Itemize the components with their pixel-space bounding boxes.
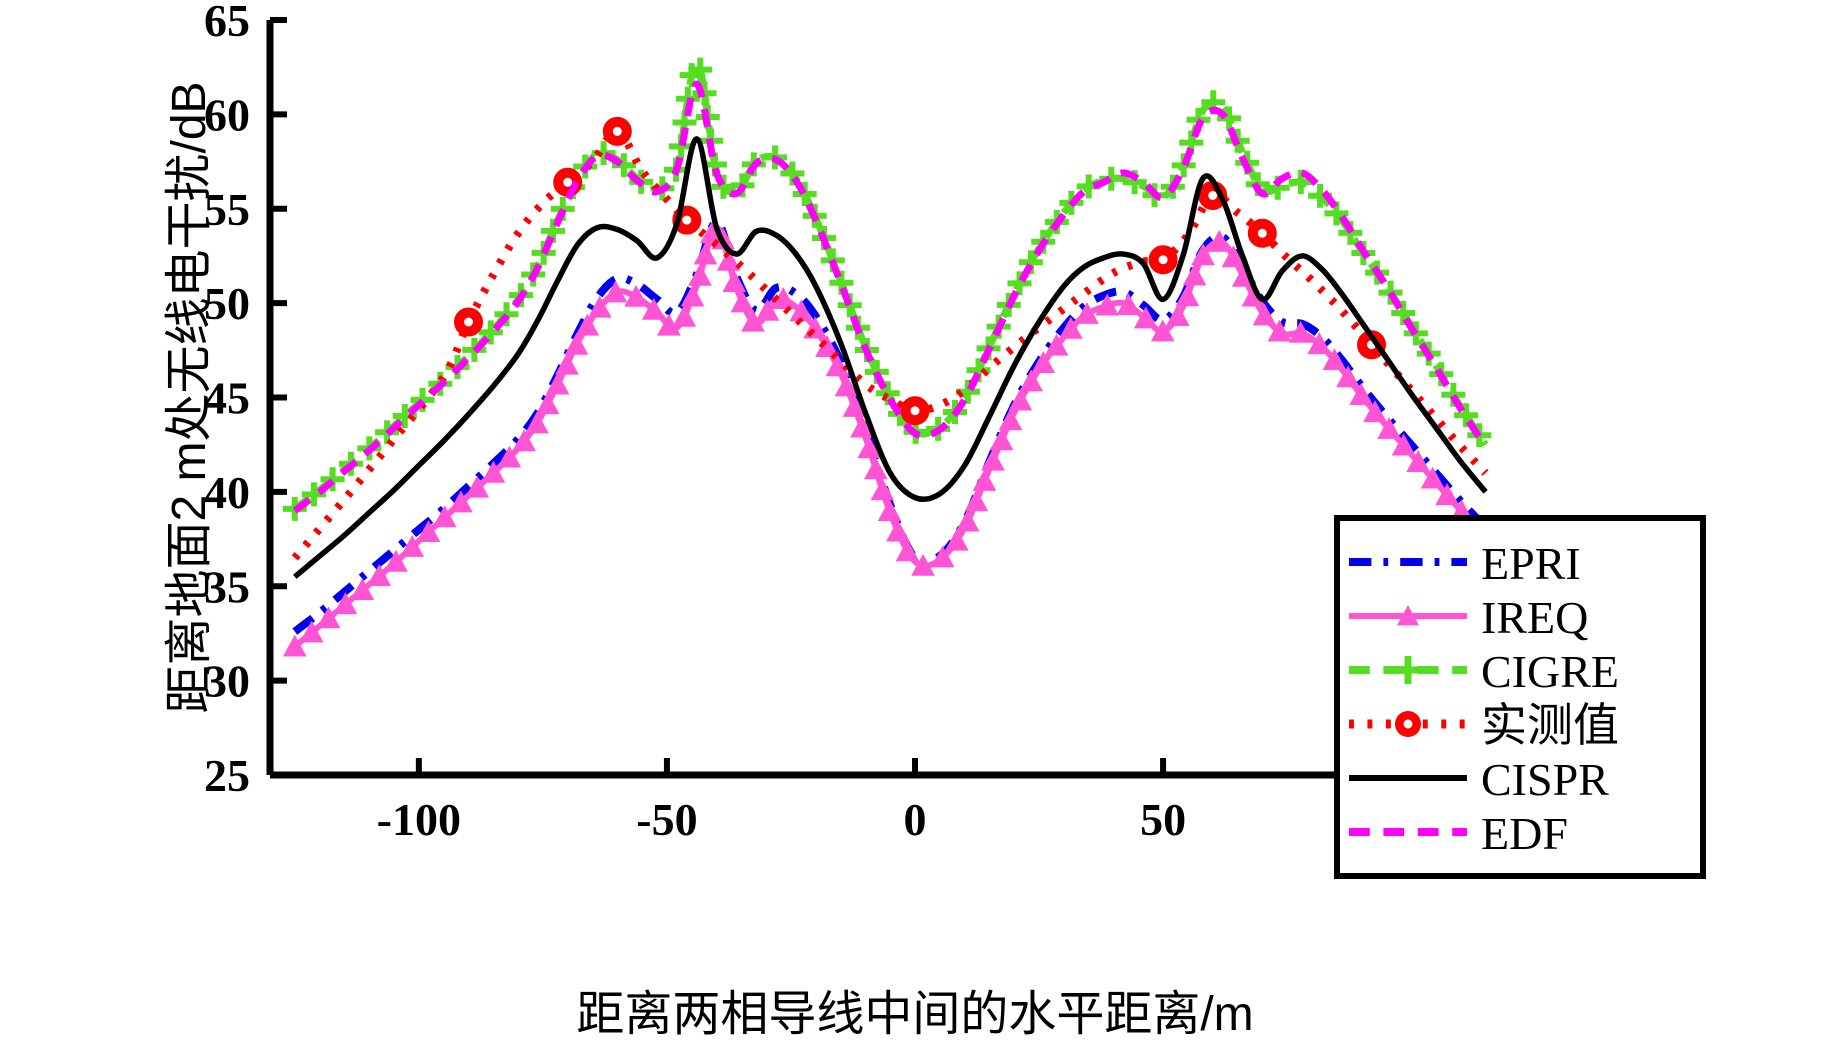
series-EDF — [295, 84, 1486, 511]
x-tick-label: 50 — [1140, 794, 1186, 845]
marker-plus — [1172, 153, 1196, 177]
x-axis-title: 距离两相导线中间的水平距离/m — [576, 988, 1253, 1041]
marker-triangle — [871, 480, 893, 500]
series-CIGRE — [283, 58, 1491, 521]
marker-triangle — [1184, 265, 1206, 285]
marker-triangle — [879, 500, 901, 520]
marker-triangle — [731, 292, 753, 312]
y-axis-title: 距离地面2 m处无线电干扰/dB — [163, 81, 216, 713]
marker-triangle — [957, 511, 979, 531]
legend-label-IREQ: IREQ — [1481, 592, 1588, 643]
legend-label-EDF: EDF — [1481, 808, 1568, 859]
legend-label-EPRI: EPRI — [1481, 538, 1581, 589]
radio-interference-profile-chart: 253035404550556065-100-50050100距离两相导线中间的… — [0, 0, 1843, 1056]
marker-plus — [1099, 167, 1123, 191]
x-tick-label: 0 — [904, 794, 927, 845]
y-tick-label: 65 — [204, 0, 250, 46]
legend-marker-circle-center — [1404, 720, 1413, 729]
series-EPRI — [295, 222, 1486, 632]
marker-plus — [838, 293, 862, 317]
legend[interactable]: EPRIIREQCIGRE实测值CISPREDF — [1337, 518, 1703, 876]
x-tick-label: -100 — [377, 794, 461, 845]
marker-circle-center — [1159, 255, 1168, 264]
y-tick-label: 25 — [204, 750, 250, 801]
marker-circle-center — [1258, 229, 1267, 238]
marker-triangle — [965, 491, 987, 511]
marker-triangle — [537, 393, 559, 413]
legend-label-CIGRE: CIGRE — [1481, 646, 1619, 697]
line-EDF — [295, 84, 1486, 511]
marker-circle-center — [682, 216, 691, 225]
series-IREQ — [284, 223, 1488, 656]
marker-circle-center — [613, 127, 622, 136]
line-IREQ — [295, 228, 1486, 647]
marker-circle-center — [911, 406, 920, 415]
legend-marker-plus — [1405, 656, 1412, 684]
marker-triangle — [1000, 409, 1022, 429]
marker-triangle — [556, 354, 578, 374]
marker-triangle — [887, 521, 909, 541]
line-EPRI — [295, 222, 1486, 632]
marker-triangle — [673, 306, 695, 326]
line-CIGRE — [295, 62, 1486, 509]
marker-triangle — [991, 430, 1013, 450]
marker-triangle — [897, 540, 919, 560]
legend-label-实测值: 实测值 — [1481, 699, 1619, 751]
marker-triangle — [982, 450, 1004, 470]
legend-label-CISPR: CISPR — [1481, 754, 1609, 805]
marker-circle-center — [464, 318, 473, 327]
x-tick-label: -50 — [636, 794, 697, 845]
series-group — [283, 58, 1491, 656]
chart-figure: 253035404550556065-100-50050100距离两相导线中间的… — [0, 0, 1843, 1056]
marker-circle-center — [1208, 191, 1217, 200]
marker-triangle — [974, 470, 996, 490]
